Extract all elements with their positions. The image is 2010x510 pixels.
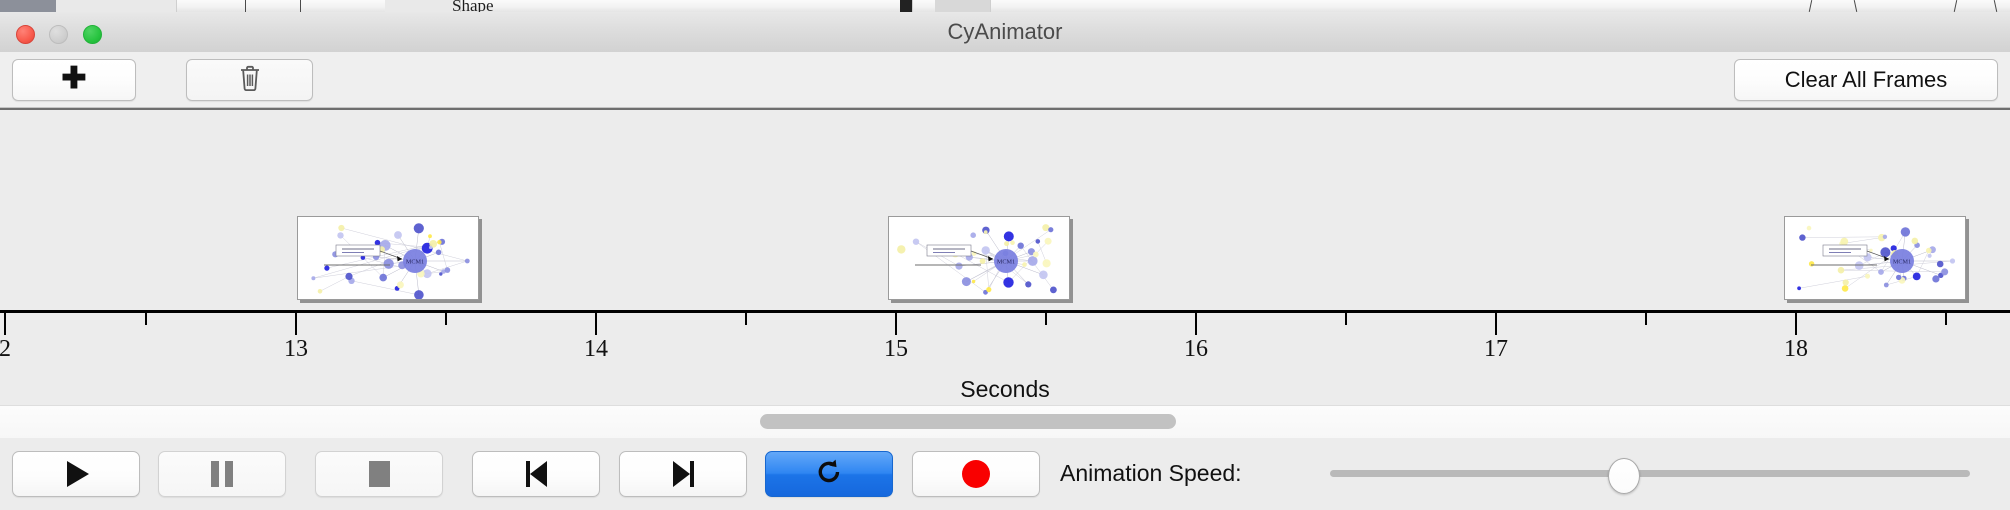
axis-tick-label: 16 — [1184, 336, 1208, 363]
axis-tick-label: 18 — [1784, 336, 1808, 363]
toolbar: ✚ Clear All Frames — [0, 52, 2010, 108]
axis-title: Seconds — [0, 376, 2010, 403]
add-frame-button[interactable]: ✚ — [12, 59, 136, 101]
timeline-panel[interactable]: 2131415161718 MCM1 MCM1 MCM1 Seconds — [0, 108, 2010, 405]
skip-forward-icon — [673, 461, 694, 487]
play-button[interactable] — [12, 451, 140, 497]
axis-tick — [1645, 313, 1647, 325]
animation-speed-label: Animation Speed: — [1060, 451, 1242, 495]
network-thumbnail: MCM1 — [1785, 217, 1965, 299]
bg-chip — [935, 0, 991, 12]
bg-chip — [0, 0, 57, 12]
loop-icon — [814, 457, 844, 492]
bg-chip — [385, 0, 461, 12]
axis-tick — [445, 313, 447, 325]
cyanimator-window: Shape CyAnimator ✚ — [0, 0, 2010, 510]
clear-all-frames-button[interactable]: Clear All Frames — [1734, 59, 1998, 101]
bg-tick — [1809, 0, 1812, 12]
axis-tick — [295, 313, 297, 335]
network-thumbnail: MCM1 — [298, 217, 478, 299]
bg-chip — [56, 0, 177, 12]
bg-tick — [245, 0, 246, 12]
axis-tick — [4, 313, 6, 335]
axis-tick — [595, 313, 597, 335]
network-thumbnail: MCM1 — [889, 217, 1069, 299]
svg-text:MCM1: MCM1 — [1893, 258, 1911, 265]
bg-tick — [1994, 0, 1997, 12]
axis-tick — [1945, 313, 1947, 325]
bg-tick — [1954, 0, 1957, 12]
axis-tick-label: 2 — [0, 336, 11, 363]
record-button[interactable] — [912, 451, 1040, 497]
axis-tick — [1795, 313, 1797, 335]
axis-tick-label: 13 — [284, 336, 308, 363]
timeline-axis — [0, 310, 2010, 313]
animation-speed-slider[interactable] — [1330, 451, 1970, 495]
axis-tick-label: 17 — [1484, 336, 1508, 363]
axis-tick — [1195, 313, 1197, 335]
bg-tick — [1854, 0, 1857, 12]
keyframe-3[interactable]: MCM1 — [1784, 216, 1966, 300]
stop-button[interactable] — [315, 451, 443, 497]
skip-to-end-button[interactable] — [619, 451, 747, 497]
trash-icon — [238, 64, 262, 97]
axis-tick — [1495, 313, 1497, 335]
axis-tick — [145, 313, 147, 325]
playback-control-bar: Animation Speed: — [0, 438, 2010, 510]
bg-tick — [300, 0, 301, 12]
loop-button[interactable] — [765, 451, 893, 497]
keyframe-2[interactable]: MCM1 — [888, 216, 1070, 300]
bg-chip — [900, 0, 913, 12]
clear-all-frames-label: Clear All Frames — [1785, 67, 1948, 93]
window-title: CyAnimator — [0, 12, 2010, 52]
svg-text:MCM1: MCM1 — [406, 258, 424, 265]
slider-track[interactable] — [1330, 470, 1970, 477]
svg-text:MCM1: MCM1 — [997, 258, 1015, 265]
timeline-top-divider — [0, 108, 2010, 110]
title-bar: CyAnimator — [0, 12, 2010, 53]
skip-back-icon — [526, 461, 547, 487]
timeline-scrollbar[interactable] — [0, 405, 2010, 439]
record-icon — [962, 460, 990, 488]
keyframe-1[interactable]: MCM1 — [297, 216, 479, 300]
axis-tick-label: 14 — [584, 336, 608, 363]
stop-icon — [369, 461, 390, 487]
play-icon — [67, 461, 89, 487]
axis-tick — [1045, 313, 1047, 325]
skip-to-start-button[interactable] — [472, 451, 600, 497]
axis-tick-label: 15 — [884, 336, 908, 363]
axis-tick — [895, 313, 897, 335]
pause-button[interactable] — [158, 451, 286, 497]
delete-frame-button[interactable] — [186, 59, 313, 101]
slider-thumb[interactable] — [1608, 458, 1640, 494]
axis-tick — [745, 313, 747, 325]
axis-tick — [1345, 313, 1347, 325]
pause-icon — [211, 461, 233, 487]
timeline-scrollbar-thumb[interactable] — [760, 414, 1176, 429]
plus-icon: ✚ — [61, 64, 86, 94]
